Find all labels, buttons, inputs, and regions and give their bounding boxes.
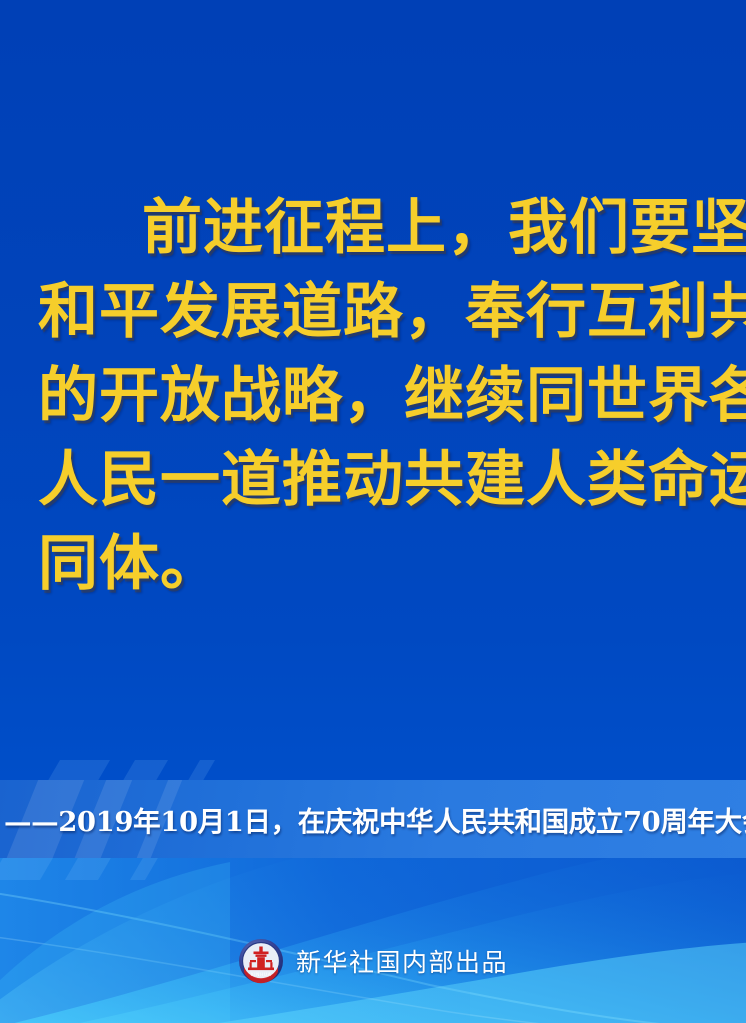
quote-line-5: 同体。 xyxy=(38,522,708,606)
quote-line-4: 人民一道推动共建人类命运共 xyxy=(38,438,708,522)
attribution-text: ——2019年10月1日，在庆祝中华人民共和国成立70周年大会上的讲话 xyxy=(0,780,746,858)
quote-line-3: 的开放战略，继续同世界各国 xyxy=(38,354,708,438)
poster-canvas: 前进征程上，我们要坚持 和平发展道路，奉行互利共赢 的开放战略，继续同世界各国 … xyxy=(0,0,746,1023)
xinhua-logo-icon: XINHUA xyxy=(238,938,284,984)
footer-credit: XINHUA 新华社国内部出品 xyxy=(0,938,746,984)
svg-text:XINHUA: XINHUA xyxy=(251,972,272,978)
footer-credit-text: 新华社国内部出品 xyxy=(296,943,508,979)
quote-text-block: 前进征程上，我们要坚持 和平发展道路，奉行互利共赢 的开放战略，继续同世界各国 … xyxy=(0,186,746,606)
quote-line-2: 和平发展道路，奉行互利共赢 xyxy=(38,270,708,354)
quote-line-1: 前进征程上，我们要坚持 xyxy=(38,186,708,270)
